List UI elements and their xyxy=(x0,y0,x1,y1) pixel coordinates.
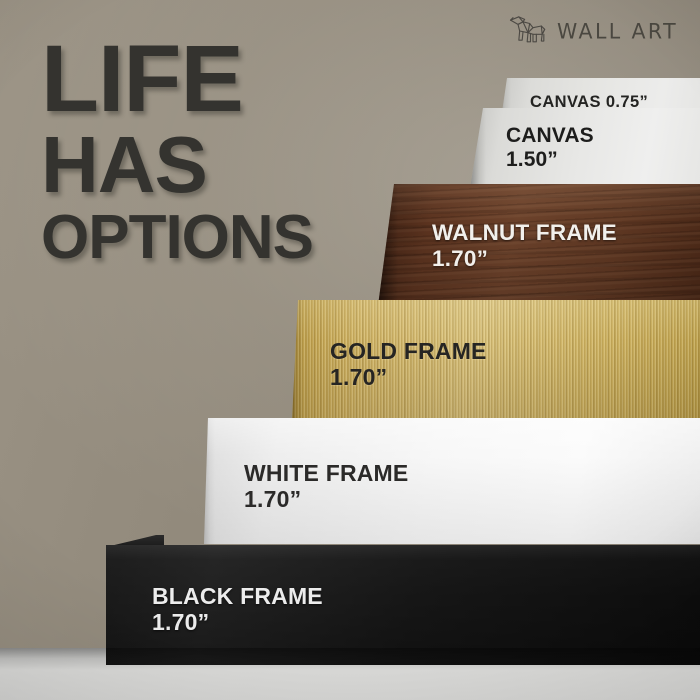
panel-label-canvas-1-50: CANVAS 1.50” xyxy=(506,124,594,171)
panel-black-frame[interactable]: BLACK FRAME 1.70” xyxy=(106,545,700,665)
headline-line-3: OPTIONS xyxy=(41,209,313,266)
panel-label-gold-frame: GOLD FRAME 1.70” xyxy=(330,338,487,390)
brand-name: WALL ART xyxy=(557,18,678,43)
origami-goat-icon xyxy=(508,14,548,48)
panel-label-white-frame: WHITE FRAME 1.70” xyxy=(244,460,408,512)
panel-label-black-frame: BLACK FRAME 1.70” xyxy=(152,583,323,635)
headline-line-1: LIFE xyxy=(41,36,313,123)
page-title: LIFE HAS OPTIONS xyxy=(41,36,313,266)
panel-gold-frame[interactable]: GOLD FRAME 1.70” xyxy=(292,300,700,420)
panel-label-walnut-frame: WALNUT FRAME 1.70” xyxy=(432,220,617,271)
panel-canvas-1-50[interactable]: CANVAS 1.50” xyxy=(470,108,700,188)
brand-lockup: WALL ART xyxy=(508,14,678,48)
panel-white-frame[interactable]: WHITE FRAME 1.70” xyxy=(204,418,700,544)
headline-line-2: HAS xyxy=(41,128,313,202)
product-options-infographic: CANVAS 0.75” CANVAS 1.50” WALNUT FRAME 1… xyxy=(0,0,700,700)
panel-walnut-frame[interactable]: WALNUT FRAME 1.70” xyxy=(378,184,700,306)
